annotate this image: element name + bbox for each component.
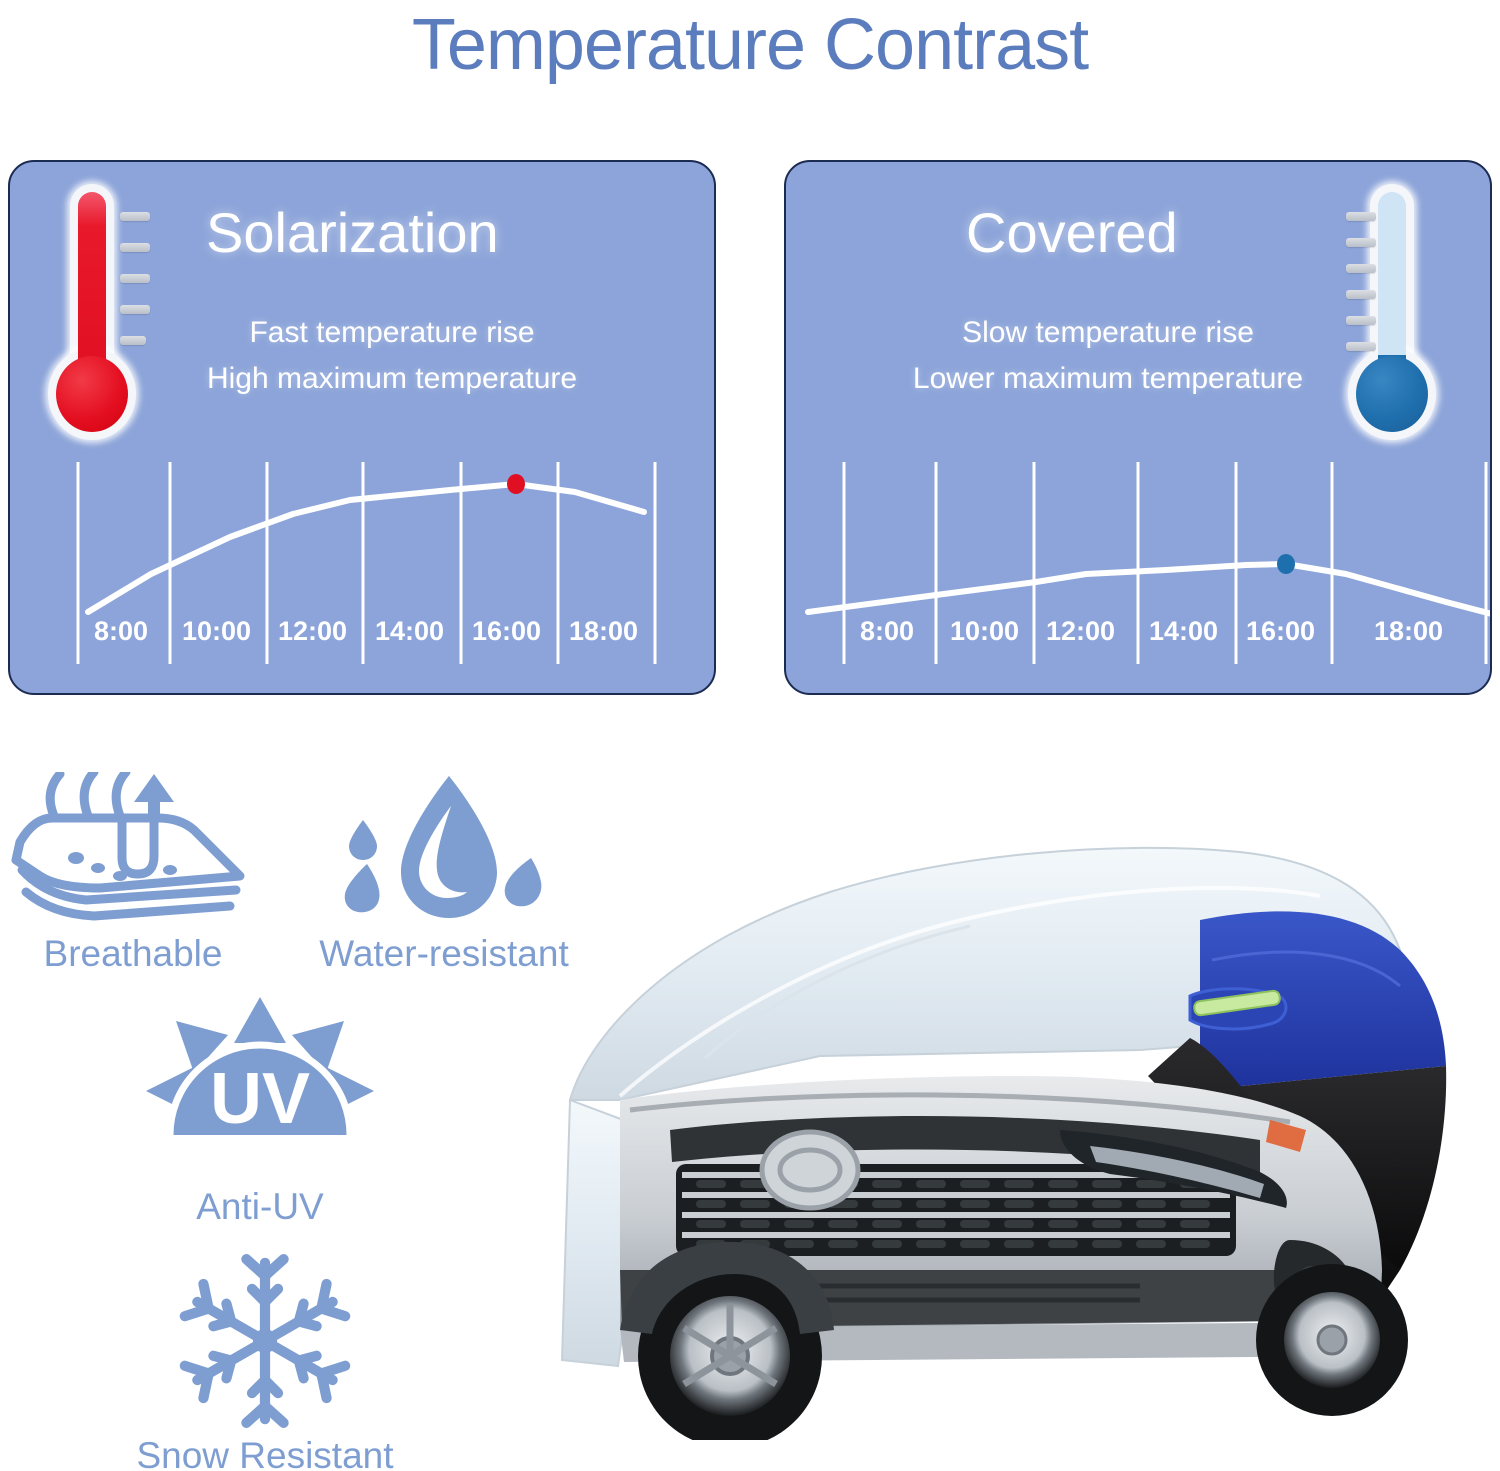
covered-suv-photo xyxy=(500,800,1500,1440)
covered-suv-illustration xyxy=(500,800,1500,1440)
feature-breathable: Breathable xyxy=(2,772,264,976)
panel-line: Lower maximum temperature xyxy=(786,356,1430,402)
feature-snow-resistant: Snow Resistant xyxy=(120,1248,410,1471)
thermometer-tick xyxy=(1346,264,1376,273)
feature-label: Snow Resistant xyxy=(120,1434,410,1471)
panel-description-solarization: Fast temperature rise High maximum tempe… xyxy=(10,310,714,402)
splash-drop xyxy=(349,820,377,860)
thermometer-tick xyxy=(1346,290,1376,299)
drop-shape xyxy=(401,776,497,918)
thermometer-tick xyxy=(120,243,150,252)
splash-drop xyxy=(345,864,380,912)
snowflake-center xyxy=(253,1329,277,1353)
chart-solarization-svg xyxy=(10,452,716,682)
uv-icon-text: UV xyxy=(210,1059,310,1139)
panel-heading-solarization: Solarization xyxy=(206,200,499,265)
rear-wheel xyxy=(1256,1264,1408,1416)
page-title: Temperature Contrast xyxy=(0,2,1500,88)
thermometer-tick xyxy=(1346,238,1376,247)
panel-heading-covered: Covered xyxy=(966,200,1178,265)
thermometer-tick xyxy=(120,212,150,221)
x-tick-label: 10:00 xyxy=(950,616,1019,647)
breathable-fabric-icon xyxy=(8,772,258,932)
chart-covered-svg xyxy=(786,452,1492,682)
x-tick-label: 14:00 xyxy=(1149,616,1218,647)
snowflake-icon xyxy=(157,1248,373,1434)
x-tick-label: 18:00 xyxy=(1374,616,1443,647)
chart-peak-marker xyxy=(507,474,525,494)
x-tick-label: 8:00 xyxy=(860,616,914,647)
arrow-up-icon xyxy=(134,774,174,814)
panel-description-covered: Slow temperature rise Lower maximum temp… xyxy=(786,310,1490,402)
panel-line: Slow temperature rise xyxy=(786,310,1430,356)
panel-line: Fast temperature rise xyxy=(70,310,714,356)
panel-solarization: Solarization Fast temperature rise High … xyxy=(8,160,716,695)
x-tick-label: 12:00 xyxy=(1046,616,1115,647)
x-tick-label: 10:00 xyxy=(182,616,251,647)
x-tick-label: 14:00 xyxy=(375,616,444,647)
chart-series-line xyxy=(808,564,1492,614)
chart-peak-marker xyxy=(1277,554,1295,574)
chart-covered: 8:00 10:00 12:00 14:00 16:00 18:00 xyxy=(786,452,1492,682)
car-emblem xyxy=(762,1132,858,1208)
sun-uv-icon: UV xyxy=(140,995,380,1185)
thermometer-tick xyxy=(1346,212,1376,221)
x-tick-label: 16:00 xyxy=(1246,616,1315,647)
feature-label: Anti-UV xyxy=(126,1185,394,1229)
x-tick-label: 18:00 xyxy=(569,616,638,647)
thermometer-tick xyxy=(120,274,150,283)
product-infographic: Temperature Contrast Solarization Fast t… xyxy=(0,0,1500,1471)
feature-label: Breathable xyxy=(2,932,264,976)
feature-anti-uv: UV Anti-UV xyxy=(126,995,394,1229)
x-tick-label: 8:00 xyxy=(94,616,148,647)
panel-covered: Covered Slow temperature rise Lower maxi… xyxy=(784,160,1492,695)
x-tick-label: 16:00 xyxy=(472,616,541,647)
chart-solarization: 8:00 10:00 12:00 14:00 16:00 18:00 xyxy=(10,452,716,682)
x-tick-label: 12:00 xyxy=(278,616,347,647)
panel-line: High maximum temperature xyxy=(70,356,714,402)
